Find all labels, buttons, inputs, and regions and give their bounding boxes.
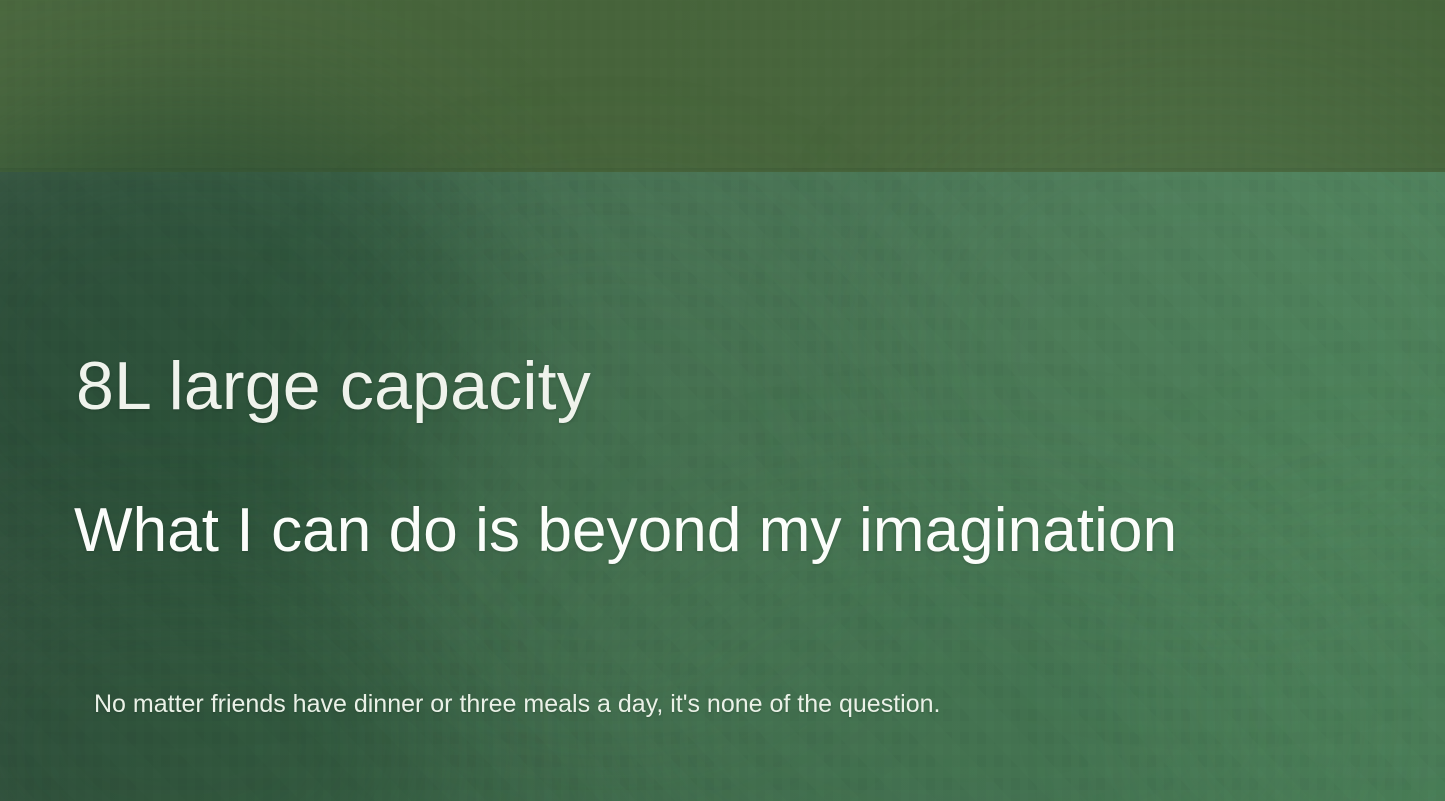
slide-subheadline: What I can do is beyond my imagination [74, 500, 1177, 562]
product-feature-slide: 8L large capacity What I can do is beyon… [0, 0, 1445, 801]
slide-body-text: No matter friends have dinner or three m… [94, 688, 940, 721]
slide-headline: 8L large capacity [76, 352, 591, 420]
slide-content: 8L large capacity What I can do is beyon… [0, 0, 1445, 801]
